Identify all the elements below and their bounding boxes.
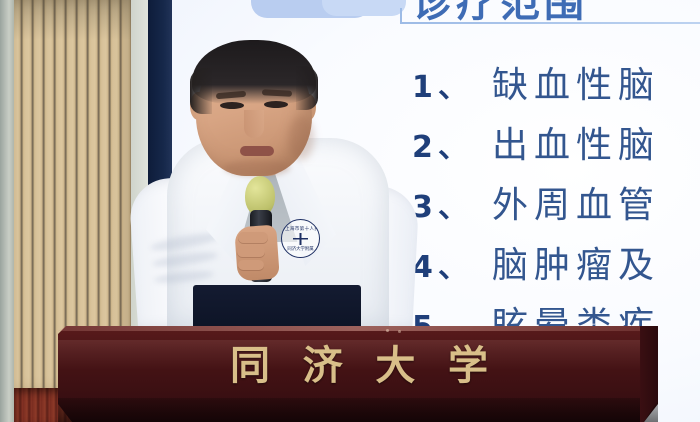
finger xyxy=(238,232,268,243)
lectern-char-1: 同 xyxy=(230,333,272,391)
lectern-lower-shadow xyxy=(58,398,658,422)
finger xyxy=(238,260,264,270)
eye-left xyxy=(220,102,244,109)
hospital-logo-badge: 上海市第十人民医院 同济大学附属 xyxy=(281,219,320,258)
hospital-logo-bottom-text: 同济大学附属 xyxy=(285,245,316,254)
chin-shadow xyxy=(224,160,290,176)
lectern-top-highlight xyxy=(58,326,658,331)
lectern-char-4: 学 xyxy=(448,333,490,391)
cheek-shadow xyxy=(288,116,314,160)
mouth xyxy=(240,146,274,156)
hair-side-left xyxy=(190,68,212,114)
hair-side-right xyxy=(296,66,318,110)
hospital-logo-cross-icon xyxy=(293,233,308,245)
lectern-institution-name: 同 济 大 学 xyxy=(230,336,490,388)
eye-right xyxy=(264,101,288,108)
lectern-surface-dot xyxy=(386,329,389,332)
finger xyxy=(237,246,265,257)
laptop-screen-back xyxy=(193,285,361,329)
nose xyxy=(244,110,264,138)
lectern-char-3: 大 xyxy=(375,333,417,391)
presentation-photo: 诊疗范围 1 、 缺血性脑 2 、 出血性脑 3 、 外周血管 4 、 xyxy=(0,0,700,422)
lectern-char-2: 济 xyxy=(303,333,345,391)
